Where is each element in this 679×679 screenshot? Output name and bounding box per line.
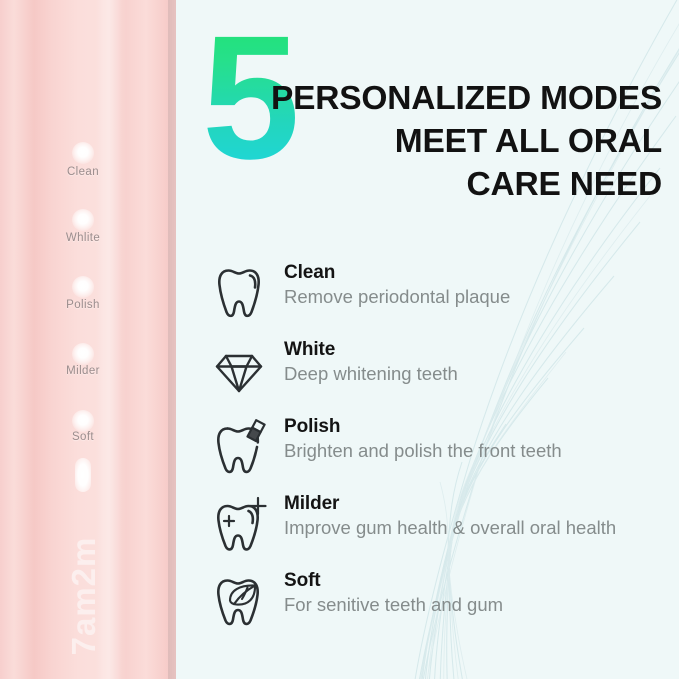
brand-logo-text: 7am2m	[65, 537, 103, 656]
mode-text-polish: Polish Brighten and polish the front tee…	[284, 416, 562, 463]
mode-text-clean: Clean Remove periodontal plaque	[284, 262, 510, 309]
mode-desc: Remove periodontal plaque	[284, 285, 510, 309]
led-indicator-clean	[72, 142, 94, 164]
mode-title: Polish	[284, 416, 562, 438]
mode-title: Clean	[284, 262, 510, 284]
mode-item-polish: Polish Brighten and polish the front tee…	[214, 412, 679, 489]
mode-item-milder: Milder Improve gum health & overall oral…	[214, 489, 679, 566]
mode-title: White	[284, 339, 458, 361]
led-label-polish: Polish	[66, 299, 100, 311]
mode-item-soft: Soft For senitive teeth and gum	[214, 566, 679, 643]
led-label-clean: Clean	[67, 166, 99, 178]
tooth-sparkle-icon	[214, 495, 270, 553]
mode-title: Soft	[284, 570, 503, 592]
led-label-white: Whlite	[66, 232, 100, 244]
mode-item-clean: Clean Remove periodontal plaque	[214, 258, 679, 335]
mode-title: Milder	[284, 493, 616, 515]
mode-desc: For senitive teeth and gum	[284, 593, 503, 617]
mode-desc: Improve gum health & overall oral health	[284, 516, 616, 540]
headline-line-2: MEET ALL ORAL	[232, 121, 662, 164]
mode-item-white: White Deep whitening teeth	[214, 335, 679, 412]
led-indicator-milder	[72, 343, 94, 365]
led-indicator-soft	[72, 410, 94, 432]
power-button[interactable]	[75, 458, 91, 492]
headline-line-1: PERSONALIZED MODES	[232, 78, 662, 121]
tooth-polisher-icon	[214, 418, 270, 476]
infographic-canvas: Clean Whlite Polish Milder Soft 7am2m 5 …	[0, 0, 679, 679]
handle-edge-shadow	[168, 0, 176, 679]
headline-title: PERSONALIZED MODES MEET ALL ORAL CARE NE…	[232, 78, 662, 207]
led-label-soft: Soft	[72, 431, 94, 443]
mode-text-soft: Soft For senitive teeth and gum	[284, 570, 503, 617]
led-indicator-polish	[72, 276, 94, 298]
headline-block: 5 PERSONALIZED MODES MEET ALL ORAL CARE …	[196, 16, 666, 206]
mode-desc: Deep whitening teeth	[284, 362, 458, 386]
mode-text-milder: Milder Improve gum health & overall oral…	[284, 493, 616, 540]
led-indicator-white	[72, 209, 94, 231]
mode-text-white: White Deep whitening teeth	[284, 339, 458, 386]
tooth-leaf-icon	[214, 572, 270, 630]
diamond-icon	[214, 341, 270, 399]
led-label-milder: Milder	[66, 365, 100, 377]
modes-list: Clean Remove periodontal plaque White De…	[214, 258, 679, 643]
mode-desc: Brighten and polish the front teeth	[284, 439, 562, 463]
headline-line-3: CARE NEED	[232, 164, 662, 207]
toothbrush-handle: Clean Whlite Polish Milder Soft 7am2m	[0, 0, 176, 679]
tooth-icon	[214, 264, 270, 322]
